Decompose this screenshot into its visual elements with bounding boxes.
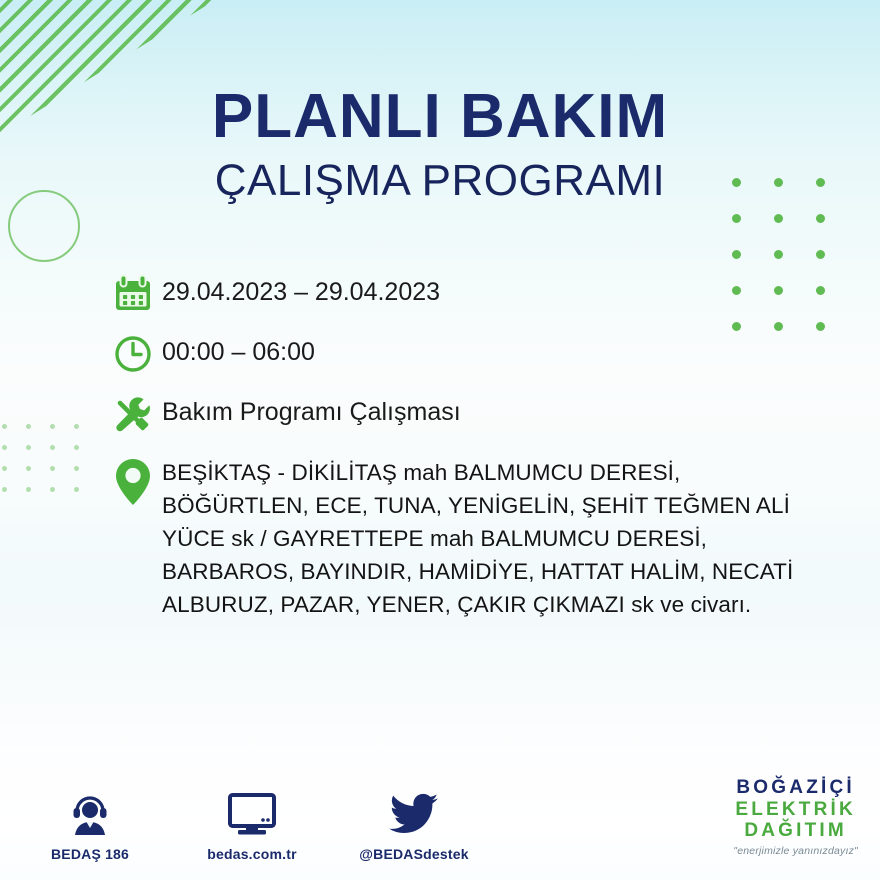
footer-label-website: bedas.com.tr [196,846,308,862]
twitter-icon [358,783,470,837]
info-row-location: BEŞİKTAŞ - DİKİLİTAŞ mah BALMUMCU DERESİ… [104,452,804,621]
dot-grid-left-decoration [2,424,98,508]
footer-label-call-center: BEDAŞ 186 [34,846,146,862]
bedas-logo: BOĞAZİÇİ ELEKTRİK DAĞITIM "enerjimizle y… [733,777,858,858]
logo-tagline: "enerjimizle yanınızdayız" [733,846,858,858]
info-row-work-type: Bakım Programı Çalışması [104,392,804,434]
footer-item-twitter[interactable]: @BEDASdestek [358,783,470,862]
time-range-value: 00:00 – 06:00 [162,332,315,369]
address-line: BARBAROS, BAYINDIR, HAMİDİYE, HATTAT HAL… [162,555,793,588]
map-pin-icon [104,452,162,506]
footer-item-call-center[interactable]: BEDAŞ 186 [34,783,146,862]
info-row-date: 29.04.2023 – 29.04.2023 [104,272,804,314]
address-line: BÖĞÜRTLEN, ECE, TUNA, YENİGELİN, ŞEHİT T… [162,489,793,522]
address-line: ALBURUZ, PAZAR, YENER, ÇAKIR ÇIKMAZI sk … [162,588,793,621]
planned-maintenance-poster: PLANLI BAKIM ÇALIŞMA PROGRAMI [0,0,880,880]
date-range-value: 29.04.2023 – 29.04.2023 [162,272,440,309]
work-type-value: Bakım Programı Çalışması [162,392,461,429]
page-title: PLANLI BAKIM [0,84,880,149]
logo-line-dagitim: DAĞITIM [733,820,858,841]
support-agent-icon [34,783,146,837]
logo-line-elektrik: ELEKTRİK [733,799,858,820]
address-line: YÜCE sk / GAYRETTEPE mah BALMUMCU DERESİ… [162,522,793,555]
calendar-icon [104,272,162,314]
info-row-time: 00:00 – 06:00 [104,332,804,374]
footer-contact-strip: BEDAŞ 186 bedas.com.tr @BEDASdestek [34,783,470,862]
tools-icon [104,392,162,434]
footer-label-twitter: @BEDASdestek [358,846,470,862]
maintenance-info-list: 29.04.2023 – 29.04.2023 00:00 – 06:00 [104,272,804,639]
poster-title-block: PLANLI BAKIM ÇALIŞMA PROGRAMI [0,84,880,205]
footer-item-website[interactable]: bedas.com.tr [196,783,308,862]
location-value: BEŞİKTAŞ - DİKİLİTAŞ mah BALMUMCU DERESİ… [162,452,793,621]
monitor-icon [196,783,308,837]
address-line: BEŞİKTAŞ - DİKİLİTAŞ mah BALMUMCU DERESİ… [162,456,793,489]
page-subtitle: ÇALIŞMA PROGRAMI [0,157,880,205]
clock-icon [104,332,162,374]
logo-line-bogazici: BOĞAZİÇİ [733,777,858,798]
